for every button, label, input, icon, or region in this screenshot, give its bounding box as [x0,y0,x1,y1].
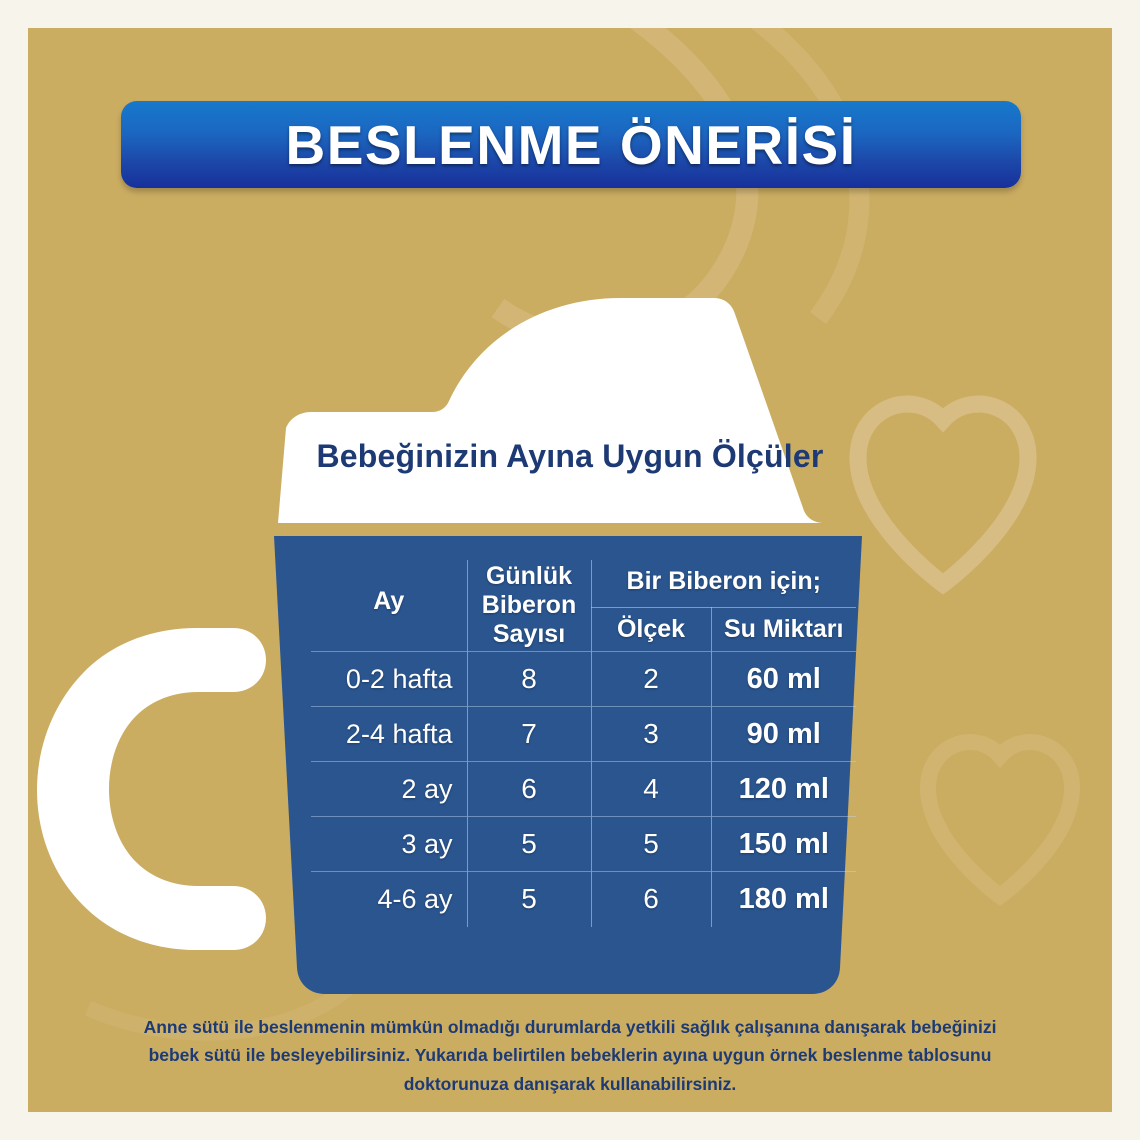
header-olcek: Ölçek [591,608,711,652]
page-title: BESLENME ÖNERİSİ [285,113,856,177]
table-row: 4-6 ay56180 ml [311,872,856,927]
table-header-row-1: Ay Günlük Biberon Sayısı Bir Biberon içi… [311,560,856,608]
cell-ay: 0-2 hafta [311,652,467,707]
cup-header-white-shape [278,298,824,523]
footer-line-3: doktorunuza danışarak kullanabilirsiniz. [78,1070,1062,1098]
table-row: 2-4 hafta7390 ml [311,707,856,762]
cell-su-miktari: 90 ml [711,707,856,762]
table-row: 2 ay64120 ml [311,762,856,817]
table-row: 3 ay55150 ml [311,817,856,872]
cell-gunluk-biberon-sayisi: 8 [467,652,591,707]
table-head: Ay Günlük Biberon Sayısı Bir Biberon içi… [311,560,856,652]
cell-olcek: 4 [591,762,711,817]
cell-gunluk-biberon-sayisi: 5 [467,872,591,927]
header-gunluk-biberon-sayisi: Günlük Biberon Sayısı [467,560,591,652]
table-body: 0-2 hafta8260 ml2-4 hafta7390 ml2 ay6412… [311,652,856,927]
measuring-cup-graphic: Bebeğinizin Ayına Uygun Ölçüler Ay Günlü… [28,278,1112,998]
feeding-table: Ay Günlük Biberon Sayısı Bir Biberon içi… [311,560,856,927]
cell-olcek: 5 [591,817,711,872]
footer-line-2: bebek sütü ile besleyebilirsiniz. Yukarı… [78,1041,1062,1069]
cell-gunluk-biberon-sayisi: 6 [467,762,591,817]
poster-canvas: BESLENME ÖNERİSİ Bebeğinizin Ayına Uygun… [28,28,1112,1112]
cup-handle-white [37,628,266,950]
cell-su-miktari: 60 ml [711,652,856,707]
header-su-miktari: Su Miktarı [711,608,856,652]
cell-su-miktari: 120 ml [711,762,856,817]
cell-gunluk-biberon-sayisi: 5 [467,817,591,872]
poster-root: BESLENME ÖNERİSİ Bebeğinizin Ayına Uygun… [0,0,1140,1140]
cell-su-miktari: 150 ml [711,817,856,872]
cell-olcek: 3 [591,707,711,762]
footer-disclaimer: Anne sütü ile beslenmenin mümkün olmadığ… [78,1013,1062,1098]
cell-olcek: 2 [591,652,711,707]
cup-subtitle: Bebeğinizin Ayına Uygun Ölçüler [28,438,1112,475]
table-row: 0-2 hafta8260 ml [311,652,856,707]
cell-olcek: 6 [591,872,711,927]
title-banner: BESLENME ÖNERİSİ [121,101,1021,188]
cell-gunluk-biberon-sayisi: 7 [467,707,591,762]
cell-ay: 2 ay [311,762,467,817]
cell-ay: 2-4 hafta [311,707,467,762]
cell-ay: 4-6 ay [311,872,467,927]
header-bir-biberon-icin: Bir Biberon için; [591,560,856,608]
cell-su-miktari: 180 ml [711,872,856,927]
header-ay: Ay [311,560,467,652]
cell-ay: 3 ay [311,817,467,872]
footer-line-1: Anne sütü ile beslenmenin mümkün olmadığ… [78,1013,1062,1041]
feeding-table-wrapper: Ay Günlük Biberon Sayısı Bir Biberon içi… [311,560,856,927]
